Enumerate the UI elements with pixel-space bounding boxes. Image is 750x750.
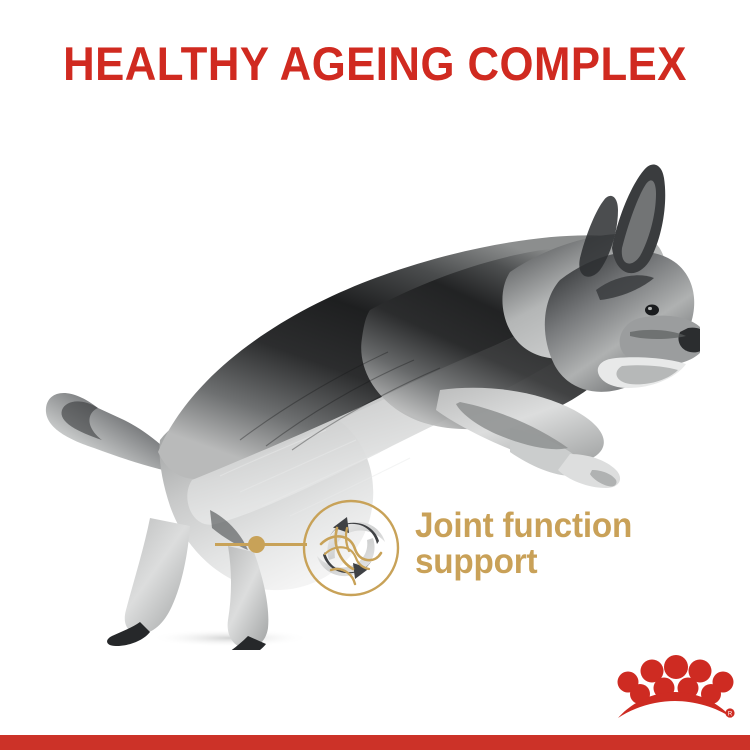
benefit-label: Joint function support	[415, 508, 662, 580]
royal-canin-crown-logo: R	[612, 652, 738, 724]
registered-trademark-symbol: R	[728, 712, 733, 718]
product-feature-banner: HEALTHY AGEING COMPLEX	[0, 0, 750, 750]
bottom-accent-bar	[0, 735, 750, 750]
joint-function-icon	[301, 498, 401, 598]
benefit-callout: Joint function support	[215, 495, 675, 605]
page-title: HEALTHY AGEING COMPLEX	[26, 36, 724, 92]
benefit-connector-dot	[248, 536, 265, 553]
benefit-label-line2: support	[415, 544, 662, 580]
benefit-label-line1: Joint function	[415, 506, 632, 545]
